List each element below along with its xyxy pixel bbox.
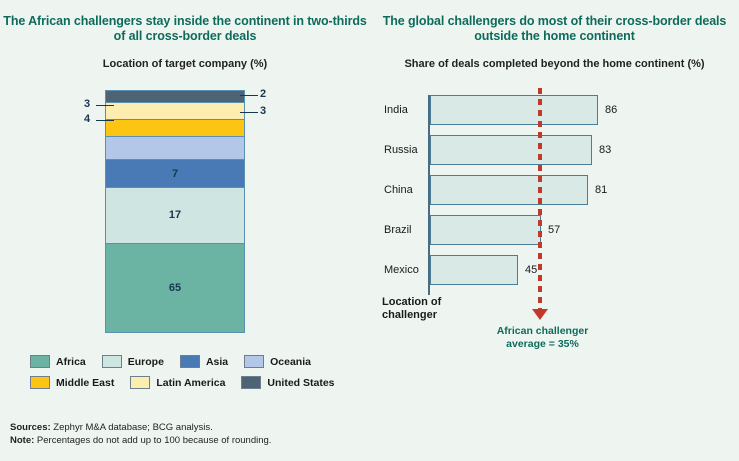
bar-row-china[interactable]: 81 — [430, 175, 607, 205]
callout-middle-east: 3 — [260, 105, 266, 117]
note-line: Note: Percentages do not add up to 100 b… — [10, 434, 271, 447]
reference-line-annotation: African challenger average = 35% — [460, 325, 625, 351]
bar-china[interactable] — [430, 175, 588, 205]
bar-value-brazil: 57 — [548, 224, 560, 236]
callout-latin-america: 3 — [84, 98, 90, 110]
legend-swatch-middle-east — [30, 376, 50, 389]
legend-label-europe: Europe — [128, 356, 164, 368]
category-label-mexico: Mexico — [384, 264, 419, 276]
legend: Africa Europe Asia Oceania Middle East — [30, 355, 360, 397]
legend-row-1: Africa Europe Asia Oceania — [30, 355, 360, 368]
legend-label-asia: Asia — [206, 356, 228, 368]
legend-label-united-states: United States — [267, 377, 334, 389]
leader-line-latin-america — [96, 105, 114, 106]
leader-line-oceania — [96, 120, 114, 121]
stack-value-europe: 17 — [169, 209, 181, 221]
legend-label-africa: Africa — [56, 356, 86, 368]
bar-value-russia: 83 — [599, 144, 611, 156]
bar-row-india[interactable]: 86 — [430, 95, 617, 125]
bar-value-china: 81 — [595, 184, 607, 196]
bar-row-russia[interactable]: 83 — [430, 135, 611, 165]
category-label-russia: Russia — [384, 144, 418, 156]
sources-line: Sources: Zephyr M&A database; BCG analys… — [10, 421, 271, 434]
bar-india[interactable] — [430, 95, 598, 125]
stack-value-africa: 65 — [169, 282, 181, 294]
category-label-india: India — [384, 104, 408, 116]
stack-segment-oceania[interactable]: 4 — [106, 137, 244, 160]
right-chart-panel: The global challengers do most of their … — [370, 0, 739, 461]
stacked-bar-chart: 2 3 3 4 7 17 65 — [105, 90, 245, 333]
legend-label-latin-america: Latin America — [156, 377, 225, 389]
bar-brazil[interactable] — [430, 215, 541, 245]
left-chart-panel: The African challengers stay inside the … — [0, 0, 370, 461]
legend-item-oceania[interactable]: Oceania — [244, 355, 311, 368]
reference-line-african-average — [538, 88, 542, 310]
reference-line-annotation-line2: average = 35% — [460, 338, 625, 351]
legend-label-oceania: Oceania — [270, 356, 311, 368]
left-chart-title: The African challengers stay inside the … — [0, 14, 370, 44]
leader-line-middle-east — [240, 112, 258, 113]
bar-mexico[interactable] — [430, 255, 518, 285]
bar-russia[interactable] — [430, 135, 592, 165]
legend-swatch-oceania — [244, 355, 264, 368]
reference-line-arrow-icon — [532, 309, 548, 320]
leader-line-united-states — [240, 95, 258, 96]
stack-segment-europe[interactable]: 17 — [106, 188, 244, 243]
sources-text: Zephyr M&A database; BCG analysis. — [53, 422, 212, 433]
stack-segment-asia[interactable]: 7 — [106, 160, 244, 188]
sources-label: Sources: — [10, 422, 51, 433]
stack-segment-latin-america[interactable]: 3 — [106, 103, 244, 120]
bar-value-mexico: 45 — [525, 264, 537, 276]
y-axis-title-line1: Location of — [382, 296, 441, 309]
bar-value-india: 86 — [605, 104, 617, 116]
right-chart-subtitle: Share of deals completed beyond the home… — [370, 57, 739, 71]
legend-swatch-united-states — [241, 376, 261, 389]
legend-item-europe[interactable]: Europe — [102, 355, 164, 368]
legend-item-middle-east[interactable]: Middle East — [30, 376, 114, 389]
y-axis-title: Location of challenger — [382, 296, 441, 322]
legend-item-united-states[interactable]: United States — [241, 376, 334, 389]
legend-swatch-europe — [102, 355, 122, 368]
footer-notes: Sources: Zephyr M&A database; BCG analys… — [10, 421, 271, 447]
legend-item-africa[interactable]: Africa — [30, 355, 86, 368]
stack-segment-united-states[interactable]: 2 — [106, 91, 244, 103]
legend-swatch-africa — [30, 355, 50, 368]
left-chart-subtitle: Location of target company (%) — [0, 57, 370, 71]
legend-label-middle-east: Middle East — [56, 377, 114, 389]
reference-line-annotation-line1: African challenger — [460, 325, 625, 338]
stack-value-asia: 7 — [172, 168, 178, 180]
legend-item-latin-america[interactable]: Latin America — [130, 376, 225, 389]
bar-row-mexico[interactable]: 45 — [430, 255, 537, 285]
legend-item-asia[interactable]: Asia — [180, 355, 228, 368]
right-chart-title: The global challengers do most of their … — [370, 14, 739, 44]
stack-segment-africa[interactable]: 65 — [106, 244, 244, 332]
legend-swatch-latin-america — [130, 376, 150, 389]
legend-row-2: Middle East Latin America United States — [30, 376, 360, 389]
stack-segment-middle-east[interactable]: 3 — [106, 120, 244, 137]
legend-swatch-asia — [180, 355, 200, 368]
callout-united-states: 2 — [260, 88, 266, 100]
note-text: Percentages do not add up to 100 because… — [37, 435, 272, 446]
note-label: Note: — [10, 435, 34, 446]
y-axis-title-line2: challenger — [382, 309, 441, 322]
category-label-china: China — [384, 184, 413, 196]
callout-oceania: 4 — [84, 113, 90, 125]
category-label-brazil: Brazil — [384, 224, 412, 236]
horizontal-bar-chart: 86 83 81 57 45 — [428, 95, 728, 295]
